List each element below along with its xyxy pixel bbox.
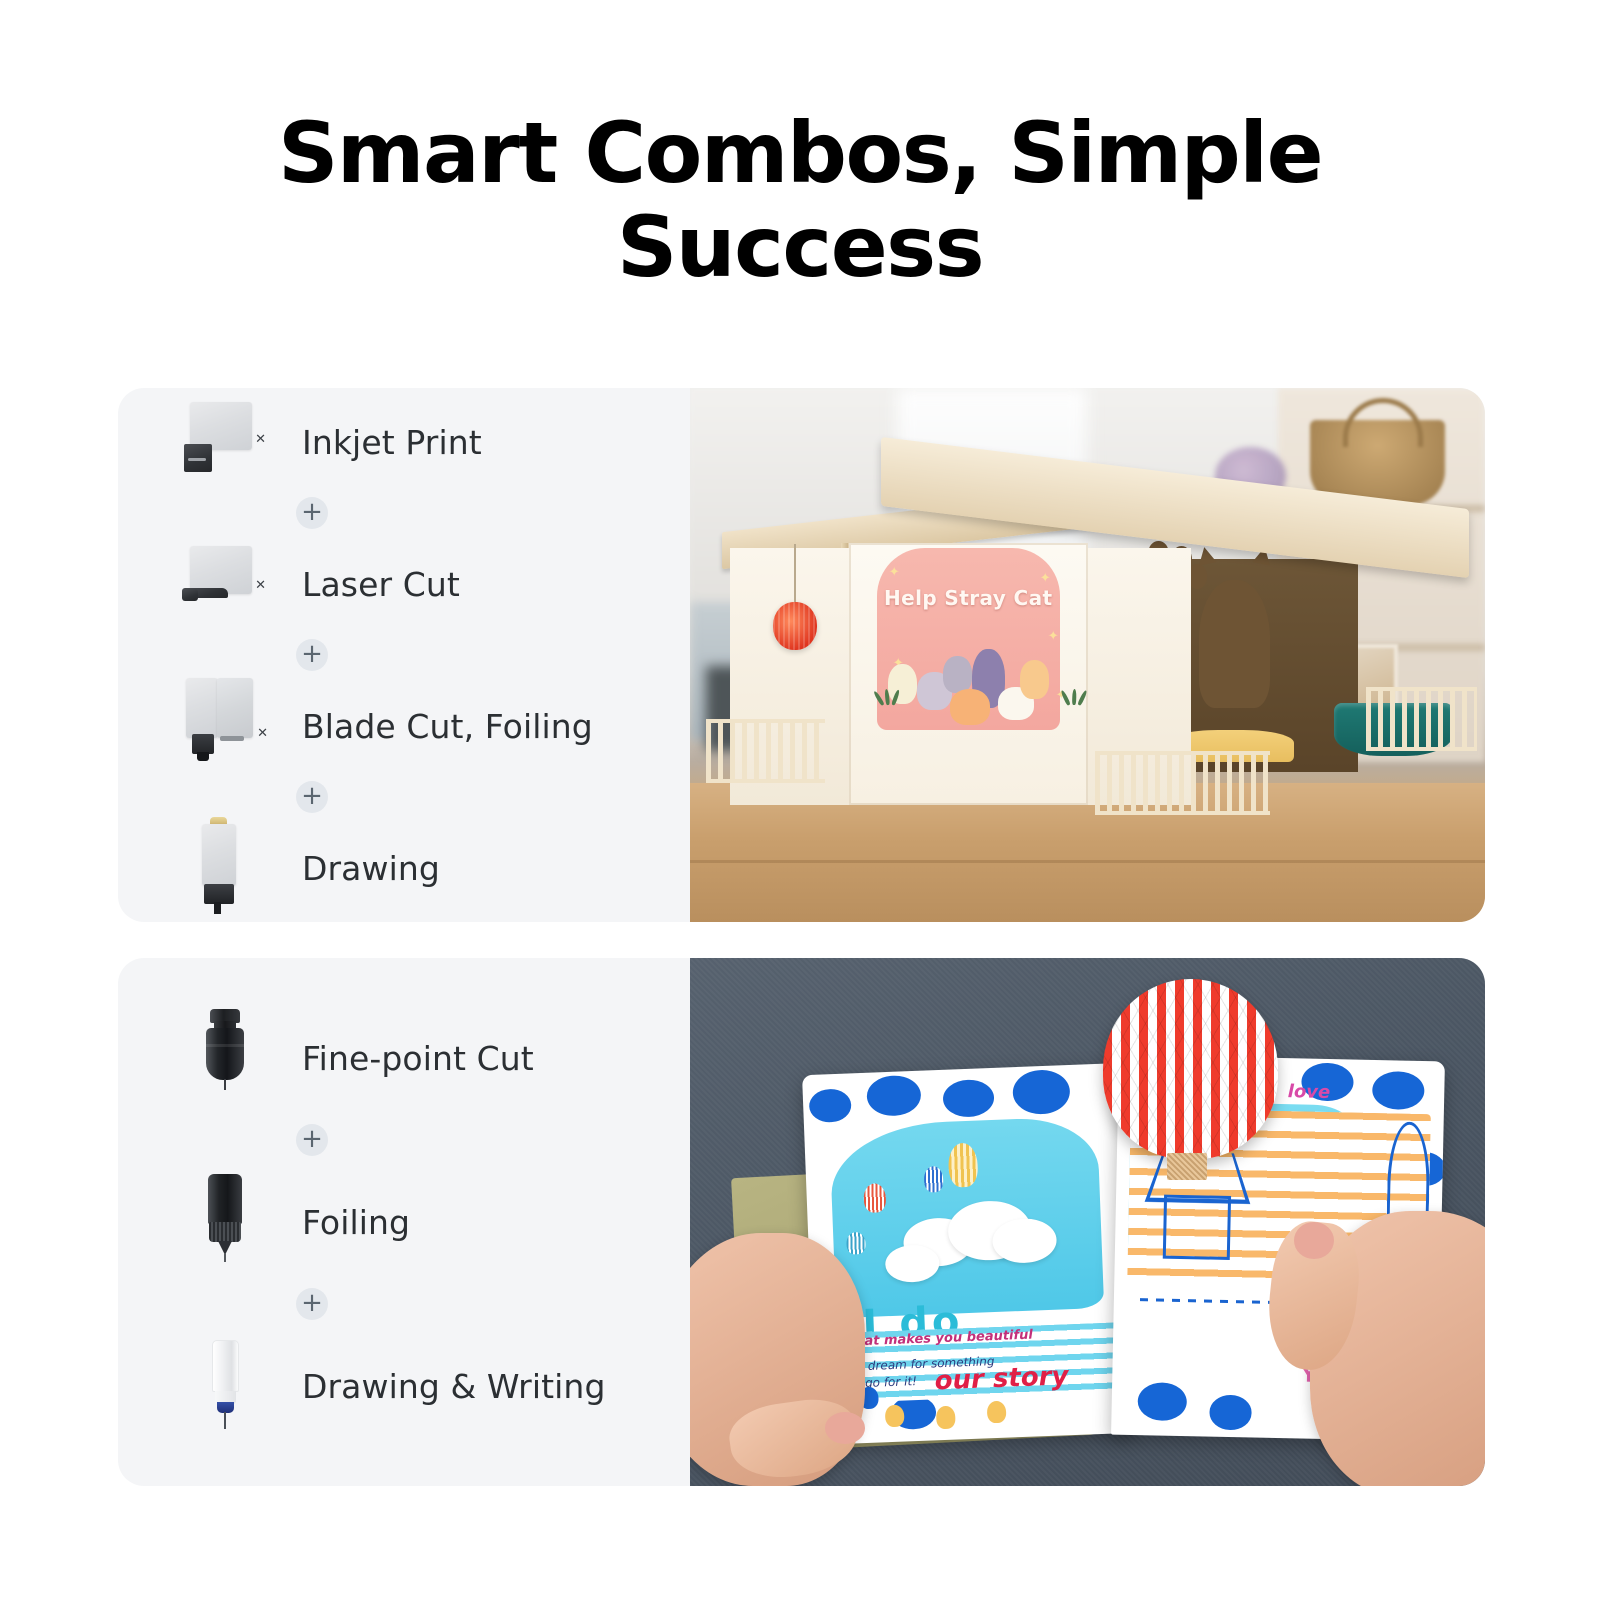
combo-item-label: Fine-point Cut (302, 1039, 534, 1078)
combo-item-laser-cut[interactable]: ✕ Laser Cut (180, 530, 690, 638)
foiling-tip-icon (180, 1168, 280, 1276)
combo-item-label: Foiling (302, 1203, 410, 1242)
drawing-pen-icon (180, 1332, 280, 1440)
combo-card-2: Fine-point Cut + Foiling + (118, 958, 1485, 1486)
combo-card-1: ✕ Inkjet Print + ✕ (118, 388, 1485, 922)
popup-book-photo: I do What makes you beautiful if we drea… (690, 958, 1485, 1486)
combo-item-drawing[interactable]: Drawing (180, 814, 690, 922)
book-highlight-text: our story (934, 1361, 1069, 1396)
combo-item-fine-point-cut[interactable]: Fine-point Cut (180, 1004, 690, 1112)
combo-item-label: Inkjet Print (302, 423, 482, 462)
plus-icon: + (296, 497, 328, 529)
plus-icon: + (296, 639, 328, 671)
plus-icon: + (296, 1124, 328, 1156)
wooden-cat-house-photo: Help Stray Cat ✦ ✦ ✦ ✦ ✦ (690, 388, 1485, 922)
drawing-module-icon (180, 814, 280, 922)
plus-icon: + (296, 781, 328, 813)
blade-foiling-module-icon: ✕ (180, 672, 280, 780)
combo-item-label: Drawing (302, 849, 440, 888)
combo-item-label: Blade Cut, Foiling (302, 707, 593, 746)
combo-list-2: Fine-point Cut + Foiling + (180, 958, 690, 1486)
combo-card-2-list-panel: Fine-point Cut + Foiling + (118, 958, 690, 1486)
inkjet-module-icon: ✕ (180, 388, 280, 496)
combo-item-inkjet-print[interactable]: ✕ Inkjet Print (180, 388, 690, 496)
popup-hot-air-balloon (1103, 979, 1278, 1159)
plus-icon: + (296, 1288, 328, 1320)
combo-item-drawing-writing[interactable]: Drawing & Writing (180, 1332, 690, 1440)
red-lantern-decor (773, 602, 817, 650)
panel-printed-text: Help Stray Cat (881, 586, 1056, 610)
plus-separator-1c: + (180, 780, 690, 814)
cat-silhouette-cutout (1199, 580, 1271, 708)
book-corner-word: love (1288, 1081, 1331, 1103)
plus-separator-1b: + (180, 638, 690, 672)
plus-separator-1a: + (180, 496, 690, 530)
combo-item-label: Laser Cut (302, 565, 460, 604)
combo-item-foiling[interactable]: Foiling (180, 1168, 690, 1276)
plus-separator-2a: + (180, 1112, 690, 1168)
fine-point-blade-icon (180, 1004, 280, 1112)
laser-module-icon: ✕ (180, 530, 280, 638)
plus-separator-2b: + (180, 1276, 690, 1332)
promo-page: Smart Combos, Simple Success ✕ Inkjet Pr… (0, 0, 1600, 1600)
combo-list-1: ✕ Inkjet Print + ✕ (180, 388, 690, 922)
page-title: Smart Combos, Simple Success (0, 106, 1600, 294)
combo-item-blade-cut-foiling[interactable]: ✕ Blade Cut, Foiling (180, 672, 690, 780)
combo-card-1-list-panel: ✕ Inkjet Print + ✕ (118, 388, 690, 922)
printed-cat-illustration (881, 639, 1064, 735)
combo-item-label: Drawing & Writing (302, 1367, 606, 1406)
